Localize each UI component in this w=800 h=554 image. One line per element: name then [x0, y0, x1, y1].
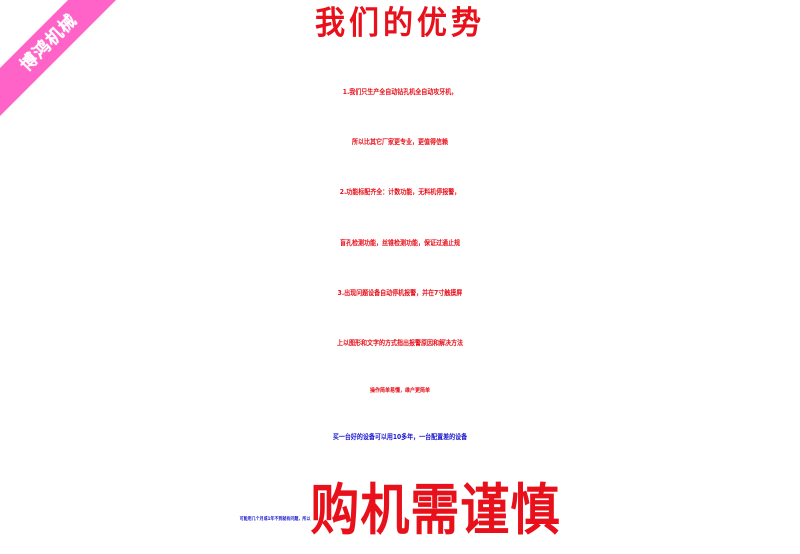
advantage-line-8: 买一台好的设备可以用10多年，一台配置差的设备 — [0, 435, 800, 442]
advantage-line-5: 3.出现问题设备自动停机报警，并在7寸触摸屏 — [0, 291, 800, 298]
closing-line-emphasis: 购机需谨慎 — [310, 479, 560, 543]
page-title: 我们的优势 — [0, 8, 800, 40]
advantage-line-4: 盲孔检测功能，丝锥检测功能，保证过通止规 — [0, 241, 800, 248]
closing-line: 可能用几个月或1年不到就有问题，所以购机需谨慎 — [0, 483, 800, 538]
advantage-line-3: 2.功能标配齐全：计数功能，无料机停报警， — [0, 190, 800, 197]
advantage-line-1: 1.我们只生产全自动钻孔机全自动攻牙机， — [0, 90, 800, 97]
advantage-line-7: 操作简单易懂，维户更简单 — [0, 389, 800, 395]
advantage-line-6: 上以图形和文字的方式指出报警原因和解决方法 — [0, 341, 800, 348]
advantage-line-2: 所以比其它厂家更专业，更值得信赖 — [0, 140, 800, 147]
advantages-poster: 博鸿机械 我们的优势 1.我们只生产全自动钻孔机全自动攻牙机， 所以比其它厂家更… — [0, 0, 800, 554]
closing-line-lead: 可能用几个月或1年不到就有问题，所以 — [240, 516, 311, 522]
